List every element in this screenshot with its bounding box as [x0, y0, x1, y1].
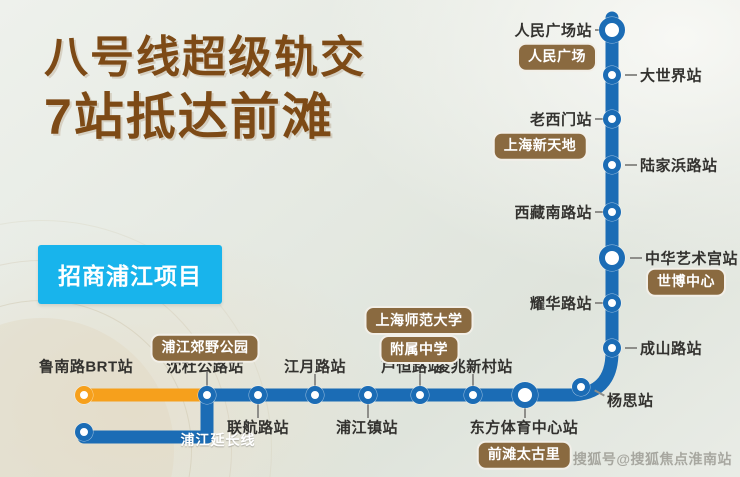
poi-badge-line-2: 附属中学	[379, 335, 459, 364]
poi-badge-xintiandi: 上海新天地	[493, 132, 588, 161]
station-dot-lujiabang-lu[interactable]	[603, 156, 621, 174]
station-dot-yangsi[interactable]	[572, 378, 590, 396]
station-label-yaohua-lu: 耀华路站	[530, 293, 592, 314]
leader-tick-lujiabang	[625, 164, 637, 166]
station-label-pujiangzhen: 浦江镇站	[336, 417, 398, 438]
station-dot-jiangyue-lu[interactable]	[306, 386, 324, 404]
poi-badge-renmin-guangchang: 人民广场	[517, 43, 597, 72]
poi-badge-shanghai-shida-fuzhong: 上海师范大学 附属中学	[365, 306, 474, 364]
line-tag-pujiang-extension: 浦江延长线	[181, 430, 256, 450]
station-dot-luheng-lu[interactable]	[411, 386, 429, 404]
station-dot-extension-terminus[interactable]	[75, 423, 93, 441]
station-dot-pujiangzhen[interactable]	[359, 386, 377, 404]
station-dot-renmin-guangchang[interactable]	[599, 17, 625, 43]
station-label-dongfang-tiyu: 东方体育中心站	[470, 417, 579, 438]
station-dot-laoximen[interactable]	[603, 110, 621, 128]
station-label-lunan-lu-brt: 鲁南路BRT站	[39, 356, 133, 377]
watermark-text: 搜狐号@搜狐焦点淮南站	[573, 449, 732, 469]
station-dot-lingzhao-xincun[interactable]	[464, 386, 482, 404]
station-label-yangsi: 杨思站	[607, 390, 654, 411]
station-dot-zhonghua-yishugong[interactable]	[599, 245, 625, 271]
station-label-dashijie: 大世界站	[640, 65, 702, 86]
station-dot-yaohua-lu[interactable]	[603, 294, 621, 312]
station-label-laoximen: 老西门站	[530, 109, 592, 130]
station-dot-lunan-lu-brt[interactable]	[75, 386, 93, 404]
poi-badge-shibo-zhongxin: 世博中心	[646, 268, 726, 297]
station-label-zhonghua-yishugong: 中华艺术宫站	[645, 248, 738, 269]
leader-tick-zhonghua	[630, 257, 642, 259]
station-dot-dongfang-tiyu[interactable]	[512, 382, 538, 408]
station-dot-shendu-gonglu[interactable]	[198, 386, 216, 404]
metro-line-poster: 八号线超级轨交 7站抵达前滩 招商浦江项目 人民广场站 大世界	[0, 0, 740, 477]
station-label-chengshan-lu: 成山路站	[640, 338, 702, 359]
leader-tick-dashijie	[625, 74, 637, 76]
station-dot-lianhang-lu[interactable]	[249, 386, 267, 404]
station-label-lujiabang-lu: 陆家浜路站	[640, 155, 718, 176]
poi-badge-pujiang-jiaoye-park: 浦江郊野公园	[151, 334, 260, 363]
station-label-jiangyue-lu: 江月路站	[284, 356, 346, 377]
poi-badge-line-1: 上海师范大学	[365, 306, 474, 335]
station-dot-xizang-nan-lu[interactable]	[603, 203, 621, 221]
station-dot-chengshan-lu[interactable]	[603, 339, 621, 357]
station-dot-dashijie[interactable]	[603, 66, 621, 84]
station-label-xizang-nan-lu: 西藏南路站	[514, 202, 592, 223]
poi-badge-qiantan-taikoo: 前滩太古里	[477, 441, 572, 470]
station-label-renmin-guangchang: 人民广场站	[514, 20, 592, 41]
leader-tick-chengshan	[625, 347, 637, 349]
